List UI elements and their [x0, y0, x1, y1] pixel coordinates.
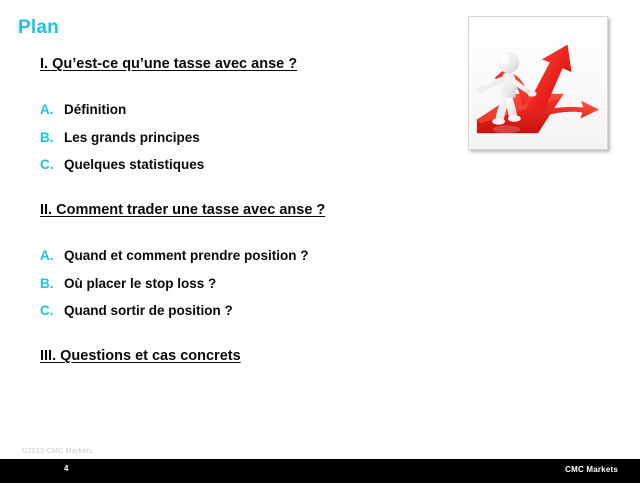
section-heading-3: III. Questions et cas concrets: [40, 348, 450, 365]
list-item-marker: C.: [40, 158, 64, 172]
section-heading-2: II. Comment trader une tasse avec anse ?: [40, 202, 450, 219]
footer-brand: CMC Markets: [565, 466, 618, 474]
list-item: B. Les grands principes: [40, 131, 450, 145]
list-item-marker: B.: [40, 277, 64, 291]
list-item-marker: A.: [40, 103, 64, 117]
spacer: [40, 73, 450, 103]
sub-list-2: A. Quand et comment prendre position ? B…: [40, 249, 450, 318]
slide-content: I. Qu’est-ce qu’une tasse avec anse ? A.…: [40, 56, 450, 365]
list-item: C. Quelques statistiques: [40, 158, 450, 172]
page-number: 4: [64, 465, 68, 473]
list-item-marker: A.: [40, 249, 64, 263]
list-item-label: Quand et comment prendre position ?: [64, 249, 309, 263]
branching-arrows-image: [468, 16, 608, 150]
spacer: [40, 219, 450, 249]
list-item: B. Où placer le stop loss ?: [40, 277, 450, 291]
list-item-label: Quand sortir de position ?: [64, 304, 233, 318]
spacer: [40, 144, 450, 158]
page-title: Plan: [18, 18, 59, 37]
list-item-label: Les grands principes: [64, 131, 200, 145]
footer-bar: [0, 459, 640, 483]
spacer: [40, 318, 450, 348]
list-item-marker: C.: [40, 304, 64, 318]
spacer: [40, 263, 450, 277]
list-item: C. Quand sortir de position ?: [40, 304, 450, 318]
list-item-marker: B.: [40, 131, 64, 145]
slide-canvas: Plan I. Qu’est-ce qu’une tasse avec anse…: [0, 0, 640, 483]
list-item: A. Définition: [40, 103, 450, 117]
list-item-label: Définition: [64, 103, 126, 117]
list-item: A. Quand et comment prendre position ?: [40, 249, 450, 263]
list-item-label: Quelques statistiques: [64, 158, 204, 172]
spacer: [40, 290, 450, 304]
list-item-label: Où placer le stop loss ?: [64, 277, 216, 291]
section-heading-1: I. Qu’est-ce qu’une tasse avec anse ?: [40, 56, 450, 73]
spacer: [40, 172, 450, 202]
sub-list-1: A. Définition B. Les grands principes C.…: [40, 103, 450, 172]
spacer: [40, 117, 450, 131]
copyright-notice: ©2013 CMC Markets: [22, 448, 93, 455]
